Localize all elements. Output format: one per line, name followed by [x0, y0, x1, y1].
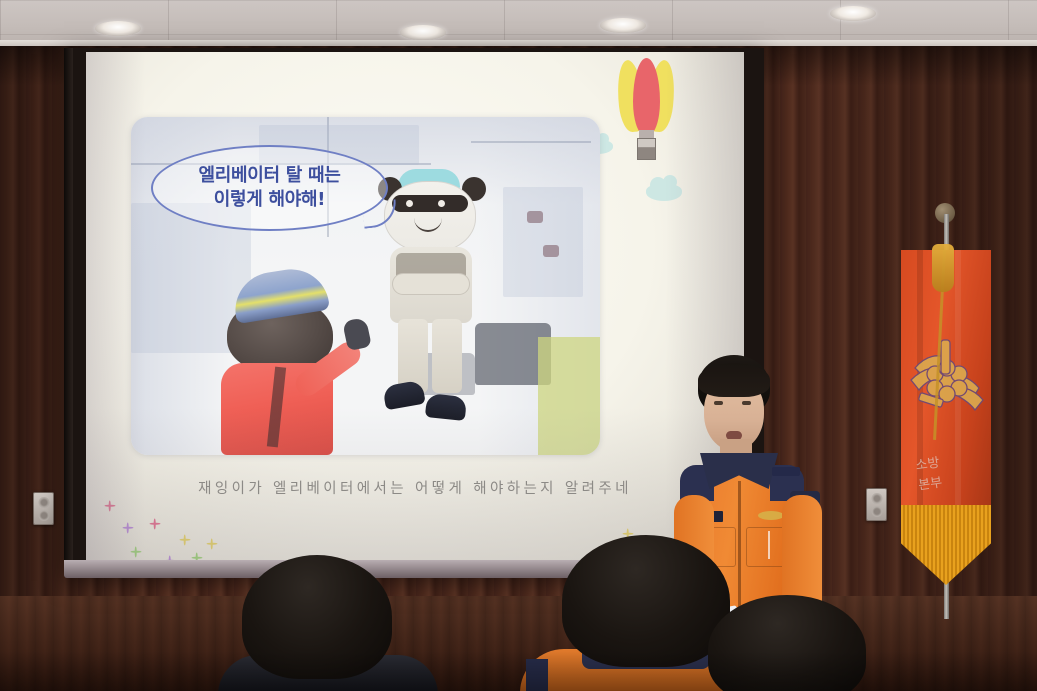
flag-emblem-winged-torch-icon — [905, 330, 989, 440]
audience-member-right — [686, 593, 886, 691]
sparkle-icon-1 — [104, 500, 115, 511]
cloud-icon-lower — [646, 184, 682, 201]
ceiling-downlight-1 — [95, 21, 141, 36]
ceiling-downlight-2 — [400, 25, 446, 40]
ceiling-downlight-4 — [830, 6, 876, 21]
wall-outlet-left[interactable] — [33, 492, 54, 525]
speech-bubble-text: 엘리베이터 탈 때는 이렇게 해야해! — [198, 164, 340, 212]
screenshot-stage: 엘리베이터 탈 때는 이렇게 해야해! 재잉이가 엘리베이터에서는 어떻게 해야… — [0, 0, 1037, 691]
mascot-eye-right — [438, 200, 445, 207]
mascot-crossed-arms — [392, 273, 470, 295]
mascot-leg-right — [432, 319, 462, 393]
speech-bubble-line-1: 엘리베이터 탈 때는 — [198, 164, 340, 188]
balloon-envelope — [614, 60, 678, 138]
presenter-eye-right — [742, 401, 751, 405]
audience-right-head — [708, 595, 866, 691]
presenter-shoulder-loop — [772, 467, 800, 476]
presentation-slide: 엘리베이터 탈 때는 이렇게 해야해! 재잉이가 엘리베이터에서는 어떻게 해야… — [86, 52, 744, 560]
ceiling-downlight-3 — [600, 18, 646, 33]
screen-left-edge — [64, 48, 73, 575]
balloon-basket — [637, 138, 656, 160]
flag-text: 소방 본부 — [904, 452, 955, 497]
mascot-red-jacket — [219, 271, 351, 455]
audience-left-head — [242, 555, 392, 679]
speech-bubble-line-2: 이렇게 해야해! — [198, 188, 340, 212]
sparkle-icon-4 — [179, 534, 190, 545]
wall-outlet-right[interactable] — [866, 488, 887, 521]
sparkle-icon-2 — [122, 522, 133, 533]
mascot-eye-left — [406, 200, 413, 207]
audience-member-left — [218, 551, 438, 691]
hot-air-balloon-icon — [614, 60, 678, 168]
office-yellow-panel — [538, 337, 600, 455]
sparkle-icon-3 — [149, 518, 160, 529]
mascot-shoe-right — [425, 393, 467, 421]
sparkle-icon-8 — [191, 552, 202, 560]
office-lamp-2 — [543, 245, 559, 257]
elevator-safety-photo: 엘리베이터 탈 때는 이렇게 해야해! — [131, 117, 600, 455]
mascot-shoe-left — [382, 380, 426, 411]
office-partition-right — [503, 187, 583, 297]
flag-tassel — [932, 244, 954, 292]
sparkle-icon-5 — [130, 546, 141, 557]
sparkle-icon-6 — [206, 538, 217, 549]
balloon-lobe-center — [633, 58, 660, 136]
slide-caption: 재잉이가 엘리베이터에서는 어떻게 해야하는지 알려주네 — [86, 477, 744, 498]
office-lamp-1 — [527, 211, 543, 223]
presenter-hair-fringe — [698, 363, 770, 397]
speech-bubble: 엘리베이터 탈 때는 이렇게 해야해! — [151, 145, 388, 231]
audience-center-stripe-left — [526, 659, 548, 691]
office-edge-3 — [471, 141, 591, 143]
presenter-eye-left — [714, 401, 723, 405]
presenter-wing-insignia-icon — [758, 511, 784, 520]
mascot-eye-mask — [392, 195, 468, 212]
